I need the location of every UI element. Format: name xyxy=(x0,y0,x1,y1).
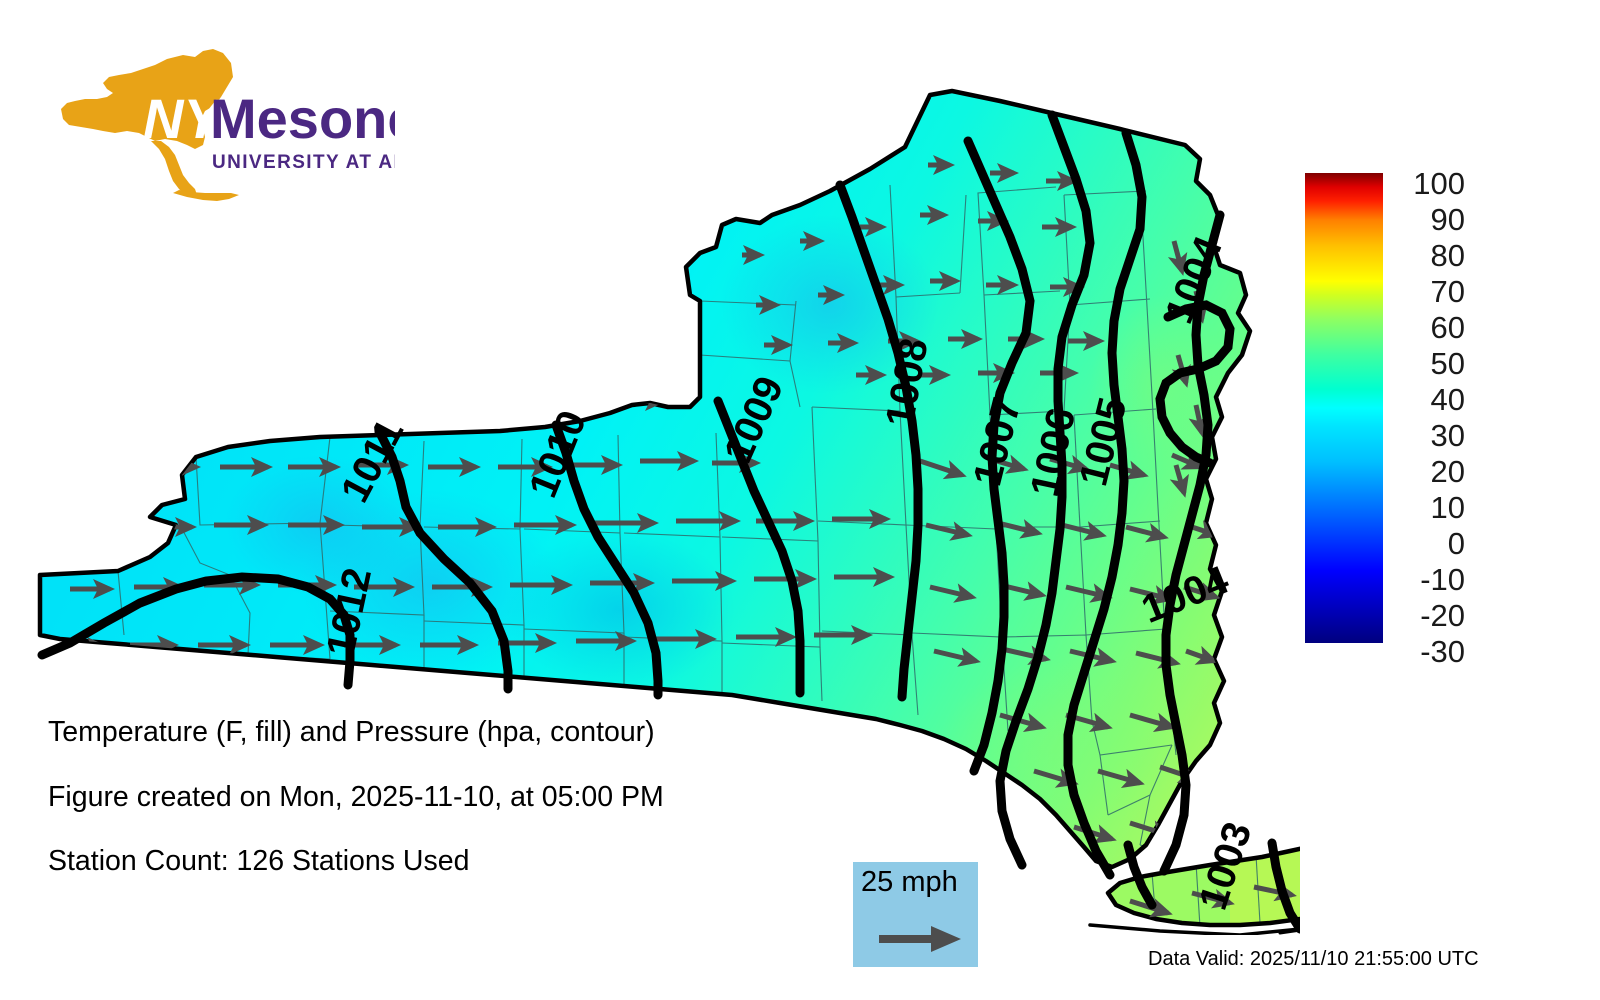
colorbar-gradient xyxy=(1305,173,1383,643)
caption-station-count: Station Count: 126 Stations Used xyxy=(48,847,848,876)
figure-captions: Temperature (F, fill) and Pressure (hpa,… xyxy=(48,718,848,912)
colorbar-tick-30: 30 xyxy=(1431,420,1465,451)
colorbar-tick-neg30: -30 xyxy=(1420,636,1465,667)
caption-title: Temperature (F, fill) and Pressure (hpa,… xyxy=(48,718,848,747)
data-valid-timestamp: Data Valid: 2025/11/10 21:55:00 UTC xyxy=(1148,948,1479,970)
figure-canvas: NYS Mesonet UNIVERSITY AT ALBANY xyxy=(0,0,1600,1000)
colorbar-tick-100: 100 xyxy=(1413,168,1465,199)
wind-key-arrow-icon xyxy=(877,922,963,956)
colorbar-tick-neg20: -20 xyxy=(1420,600,1465,631)
caption-created: Figure created on Mon, 2025-11-10, at 05… xyxy=(48,783,848,812)
colorbar-tick-50: 50 xyxy=(1431,348,1465,379)
colorbar-tick-0: 0 xyxy=(1448,528,1465,559)
colorbar-tick-70: 70 xyxy=(1431,276,1465,307)
colorbar-tick-20: 20 xyxy=(1431,456,1465,487)
temperature-colorbar: 100 90 80 70 60 50 40 30 20 10 0 -10 -20… xyxy=(1305,168,1535,658)
colorbar-tick-neg10: -10 xyxy=(1420,564,1465,595)
colorbar-tick-labels: 100 90 80 70 60 50 40 30 20 10 0 -10 -20… xyxy=(1395,168,1515,648)
wind-speed-reference-key: 25 mph xyxy=(853,862,978,967)
colorbar-tick-60: 60 xyxy=(1431,312,1465,343)
colorbar-tick-80: 80 xyxy=(1431,240,1465,271)
wind-key-label: 25 mph xyxy=(861,866,958,899)
colorbar-tick-10: 10 xyxy=(1431,492,1465,523)
colorbar-tick-90: 90 xyxy=(1431,204,1465,235)
colorbar-tick-40: 40 xyxy=(1431,384,1465,415)
